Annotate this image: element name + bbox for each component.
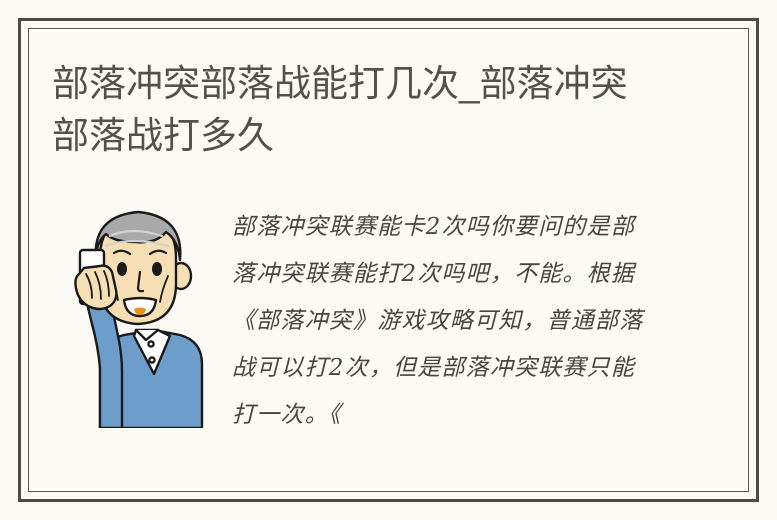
- article-body-text: 部落冲突联赛能卡2次吗你要问的是部落冲突联赛能打2次吗吧，不能。根据《部落冲突》…: [232, 204, 652, 439]
- elderly-man-on-phone-illustration: [62, 196, 212, 428]
- page-content: 部落冲突部落战能打几次_部落冲突部落战打多久: [0, 0, 777, 520]
- article-body-section: 部落冲突联赛能卡2次吗你要问的是部落冲突联赛能打2次吗吧，不能。根据《部落冲突》…: [0, 196, 777, 436]
- page-title: 部落冲突部落战能打几次_部落冲突部落战打多久: [52, 58, 652, 162]
- page-root: 部落冲突部落战能打几次_部落冲突部落战打多久: [0, 0, 777, 520]
